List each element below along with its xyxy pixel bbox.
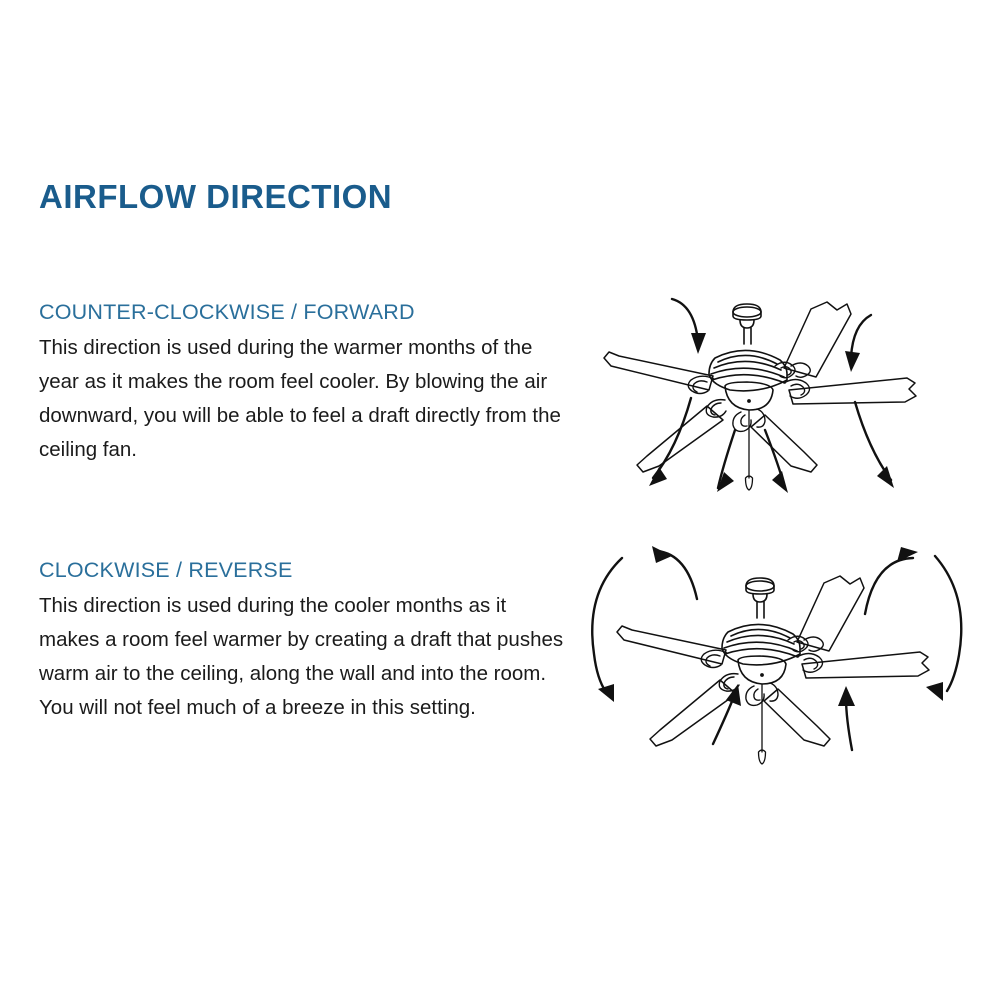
fan-motor-housing <box>722 624 800 684</box>
airflow-direction-page: AIRFLOW DIRECTION COUNTER-CLOCKWISE / FO… <box>0 0 1000 1000</box>
airflow-arrows-reverse <box>592 546 961 750</box>
fan-blades <box>617 576 929 746</box>
section-heading-clockwise-reverse: CLOCKWISE / REVERSE <box>39 558 564 583</box>
section-body-clockwise-reverse: This direction is used during the cooler… <box>39 589 564 725</box>
fan-canopy-and-downrod <box>746 578 774 618</box>
ceiling-fan-forward-airflow-diagram <box>575 282 965 522</box>
fan-canopy-and-downrod <box>733 304 761 344</box>
fan-blades <box>604 302 916 472</box>
ceiling-fan-reverse-airflow-diagram <box>560 538 975 788</box>
section-body-counter-clockwise-forward: This direction is used during the warmer… <box>39 331 564 467</box>
fan-motor-housing <box>709 350 787 410</box>
page-title: AIRFLOW DIRECTION <box>39 178 392 216</box>
section-clockwise-reverse: CLOCKWISE / REVERSE This direction is us… <box>39 558 564 725</box>
section-heading-counter-clockwise-forward: COUNTER-CLOCKWISE / FORWARD <box>39 300 564 325</box>
section-counter-clockwise-forward: COUNTER-CLOCKWISE / FORWARD This directi… <box>39 300 564 467</box>
